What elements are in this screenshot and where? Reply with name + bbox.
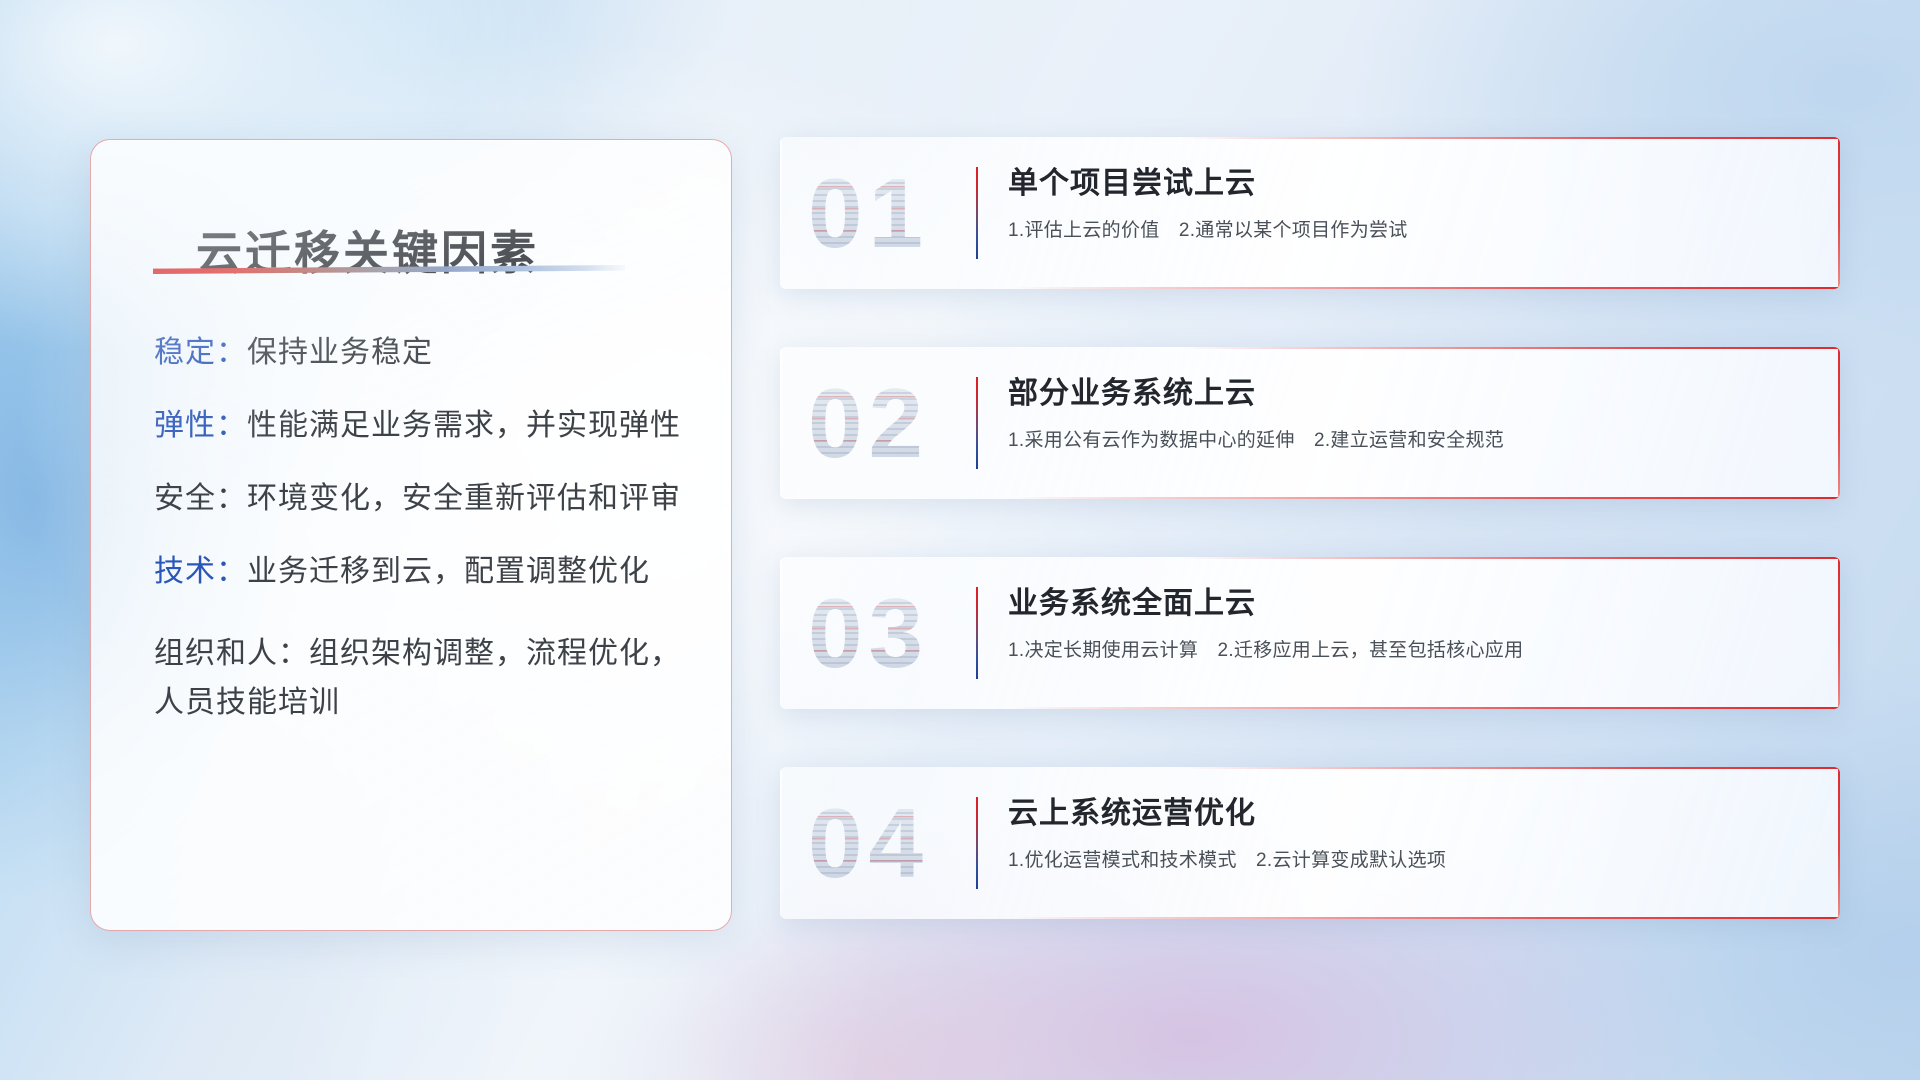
card-left-highlight	[780, 137, 782, 289]
key-factors-list: 稳定：保持业务稳定 弹性：性能满足业务需求，并实现弹性 安全：环境变化，安全重新…	[154, 338, 691, 770]
list-item: 组织和人：组织架构调整，流程优化，人员技能培训	[154, 630, 691, 727]
card-left-highlight	[780, 767, 782, 919]
card-title: 业务系统全面上云	[1008, 585, 1800, 623]
card-body: 部分业务系统上云 1.采用公有云作为数据中心的延伸 2.建立运营和安全规范	[1008, 375, 1800, 454]
card-left-highlight	[780, 557, 782, 709]
card-description: 1.评估上云的价值 2.通常以某个项目作为尝试	[1008, 218, 1800, 245]
card-top-accent	[1183, 767, 1840, 769]
card-left-highlight	[780, 347, 782, 499]
card-top-accent	[1183, 347, 1840, 349]
list-item-label: 稳定：	[154, 336, 247, 369]
card-bottom-accent	[1013, 707, 1840, 709]
list-item: 技术：业务迁移到云，配置调整优化	[154, 557, 691, 587]
card-title: 部分业务系统上云	[1008, 375, 1800, 413]
list-item-text: 环境变化，安全重新评估和评审	[247, 482, 681, 515]
card-title: 云上系统运营优化	[1008, 795, 1800, 833]
stage-card[interactable]: 04 04 云上系统运营优化 1.优化运营模式和技术模式 2.云计算变成默认选项	[780, 767, 1840, 919]
stage-card[interactable]: 03 03 业务系统全面上云 1.决定长期使用云计算 2.迁移应用上云，甚至包括…	[780, 557, 1840, 709]
key-factors-panel: 云迁移关键因素 稳定：保持业务稳定 弹性：性能满足业务需求，并实现弹性 安全：环…	[90, 139, 732, 931]
card-description: 1.采用公有云作为数据中心的延伸 2.建立运营和安全规范	[1008, 428, 1800, 455]
card-title: 单个项目尝试上云	[1008, 165, 1800, 203]
list-item-label: 组织和人：	[154, 637, 309, 670]
card-divider-bar	[976, 797, 978, 889]
list-item: 稳定：保持业务稳定	[154, 338, 691, 368]
card-right-accent	[1838, 557, 1840, 709]
card-right-accent	[1838, 137, 1840, 289]
card-top-accent	[1183, 137, 1840, 139]
card-divider-bar	[976, 587, 978, 679]
list-item-text: 业务迁移到云，配置调整优化	[247, 555, 650, 588]
card-bottom-accent	[1013, 287, 1840, 289]
card-description: 1.优化运营模式和技术模式 2.云计算变成默认选项	[1008, 848, 1800, 875]
list-item-text: 性能满足业务需求，并实现弹性	[247, 409, 681, 442]
stage-card[interactable]: 01 01 单个项目尝试上云 1.评估上云的价值 2.通常以某个项目作为尝试	[780, 137, 1840, 289]
card-description: 1.决定长期使用云计算 2.迁移应用上云，甚至包括核心应用	[1008, 638, 1800, 665]
list-item-label: 弹性：	[154, 409, 247, 442]
card-right-accent	[1838, 347, 1840, 499]
card-bottom-accent	[1013, 917, 1840, 919]
list-item-text: 保持业务稳定	[247, 336, 433, 369]
list-item-label: 技术：	[154, 555, 247, 588]
list-item-label: 安全：	[154, 482, 247, 515]
card-body: 单个项目尝试上云 1.评估上云的价值 2.通常以某个项目作为尝试	[1008, 165, 1800, 244]
card-divider-bar	[976, 377, 978, 469]
card-top-accent	[1183, 557, 1840, 559]
list-item: 安全：环境变化，安全重新评估和评审	[154, 484, 691, 514]
card-right-accent	[1838, 767, 1840, 919]
card-bottom-accent	[1013, 497, 1840, 499]
migration-stage-cards: 01 01 单个项目尝试上云 1.评估上云的价值 2.通常以某个项目作为尝试 0…	[780, 137, 1840, 977]
slide-stage: 云迁移关键因素 稳定：保持业务稳定 弹性：性能满足业务需求，并实现弹性 安全：环…	[0, 0, 1920, 1080]
list-item: 弹性：性能满足业务需求，并实现弹性	[154, 411, 691, 441]
card-body: 云上系统运营优化 1.优化运营模式和技术模式 2.云计算变成默认选项	[1008, 795, 1800, 874]
card-divider-bar	[976, 167, 978, 259]
stage-card[interactable]: 02 02 部分业务系统上云 1.采用公有云作为数据中心的延伸 2.建立运营和安…	[780, 347, 1840, 499]
stage-number-ghost: 01	[808, 164, 929, 262]
card-body: 业务系统全面上云 1.决定长期使用云计算 2.迁移应用上云，甚至包括核心应用	[1008, 585, 1800, 664]
stage-number-ghost: 03	[808, 584, 929, 682]
stage-number-ghost: 04	[808, 794, 929, 892]
stage-number-ghost: 02	[808, 374, 929, 472]
